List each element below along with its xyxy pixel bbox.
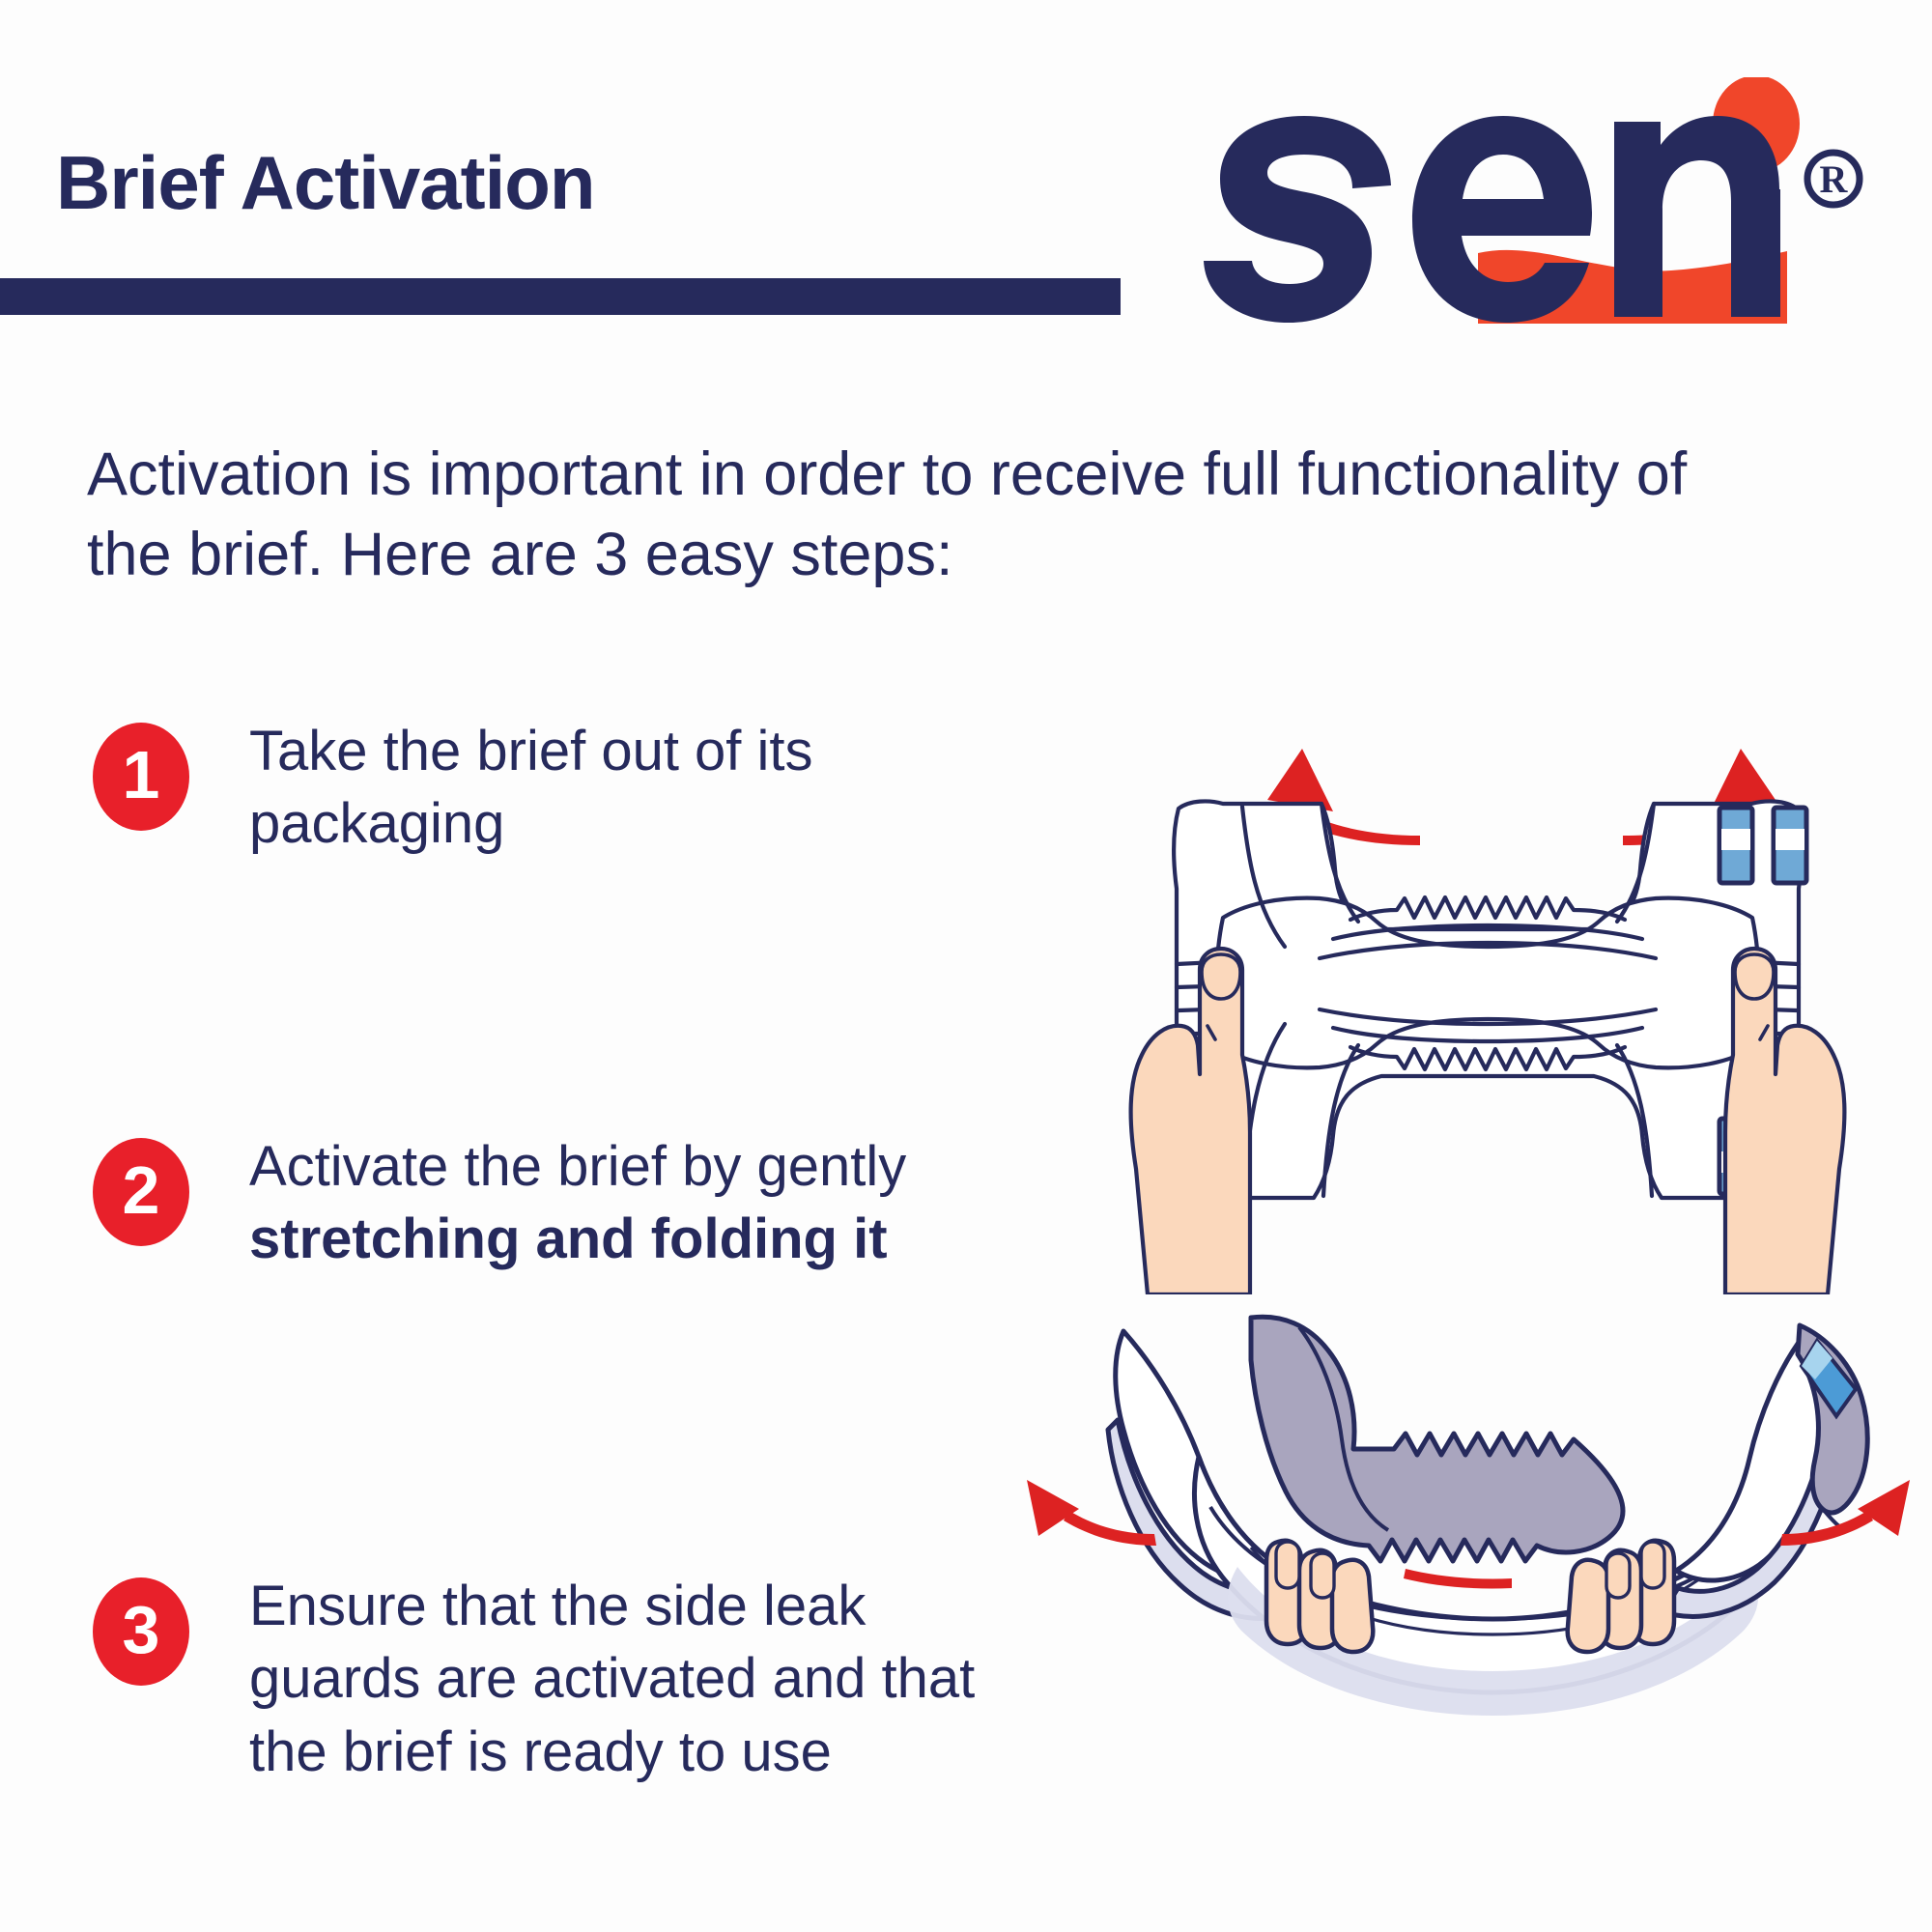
header: Brief Activation R <box>0 0 1932 348</box>
step-item-1: 1 Take the brief out of its packaging <box>0 715 1024 861</box>
fold-arrow-center-icon <box>1404 1569 1512 1589</box>
step-text-1: Take the brief out of its packaging <box>249 715 983 861</box>
step-text-3: Ensure that the side leak guards are act… <box>249 1570 983 1788</box>
intro-paragraph: Activation is important in order to rece… <box>87 435 1787 595</box>
svg-text:R: R <box>1820 157 1849 201</box>
seni-logo: R <box>1188 77 1903 328</box>
step-number-badge-2: 2 <box>93 1138 189 1246</box>
right-hand-fingers-icon <box>1568 1541 1674 1652</box>
absorbent-core <box>1251 1317 1623 1561</box>
title-underline-bar <box>0 278 1121 315</box>
steps-list: 1 Take the brief out of its packaging 2 … <box>0 696 1024 1874</box>
logo-letter-s <box>1204 116 1391 323</box>
brief-stretching-illustration <box>1043 715 1932 1294</box>
step-item-2: 2 Activate the brief by gently stretchin… <box>0 1130 1024 1276</box>
logo-letter-e <box>1412 116 1592 323</box>
step-text-2: Activate the brief by gently stretching … <box>249 1130 983 1276</box>
left-hand-fingers-icon <box>1266 1541 1373 1652</box>
step-item-3: 3 Ensure that the side leak guards are a… <box>0 1570 1024 1788</box>
logo-letter-i <box>1732 189 1780 317</box>
brief-folding-illustration <box>1009 1294 1932 1748</box>
step-number-badge-1: 1 <box>93 723 189 831</box>
infographic-page: Brief Activation R <box>0 0 1932 1932</box>
leak-guard-zigzag-top <box>1350 897 1625 920</box>
registered-trademark-icon: R <box>1807 153 1860 205</box>
step-number-badge-3: 3 <box>93 1577 189 1686</box>
page-title: Brief Activation <box>56 145 595 220</box>
